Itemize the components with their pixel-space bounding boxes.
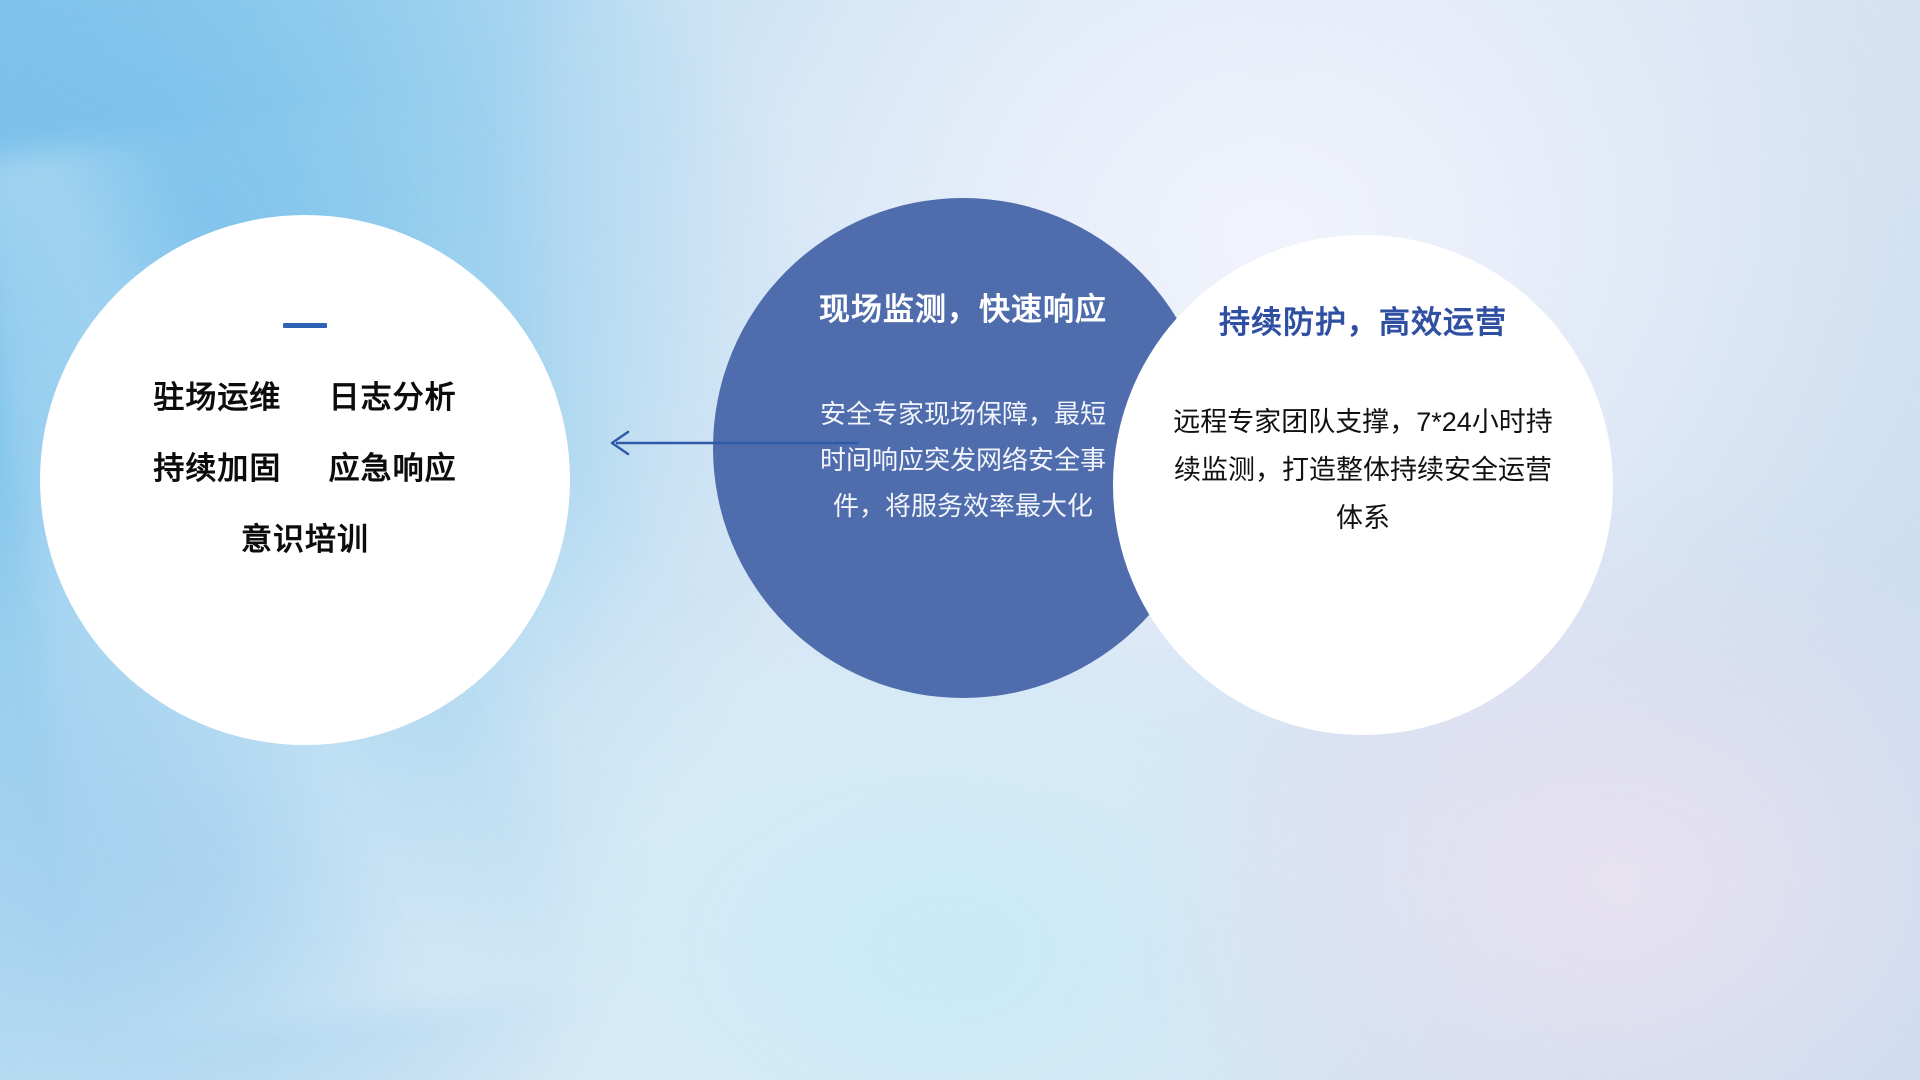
horizontal-dash-icon <box>283 323 327 328</box>
keyword: 日志分析 <box>329 380 457 415</box>
list-item: 驻场运维 日志分析 <box>153 372 456 417</box>
keyword: 驻场运维 <box>153 380 281 415</box>
list-item: 意识培训 <box>241 514 369 559</box>
arrow-left-icon <box>600 418 860 468</box>
list-item: 持续加固 应急响应 <box>153 443 456 488</box>
keyword: 应急响应 <box>329 451 457 486</box>
middle-circle-heading: 现场监测，快速响应 <box>819 284 1107 329</box>
slide-canvas: 驻场运维 日志分析 持续加固 应急响应 意识培训 现场监测，快速响应 安全专家现… <box>0 0 1920 1080</box>
keyword: 意识培训 <box>241 522 369 557</box>
right-circle-heading: 持续防护，高效运营 <box>1219 297 1507 342</box>
right-service-circle: 持续防护，高效运营 远程专家团队支撑，7*24小时持续监测，打造整体持续安全运营… <box>1113 235 1613 735</box>
left-service-circle: 驻场运维 日志分析 持续加固 应急响应 意识培训 <box>40 215 570 745</box>
keyword: 持续加固 <box>153 451 281 486</box>
left-circle-keyword-list: 驻场运维 日志分析 持续加固 应急响应 意识培训 <box>153 372 456 559</box>
right-circle-body: 远程专家团队支撑，7*24小时持续监测，打造整体持续安全运营体系 <box>1169 398 1557 542</box>
